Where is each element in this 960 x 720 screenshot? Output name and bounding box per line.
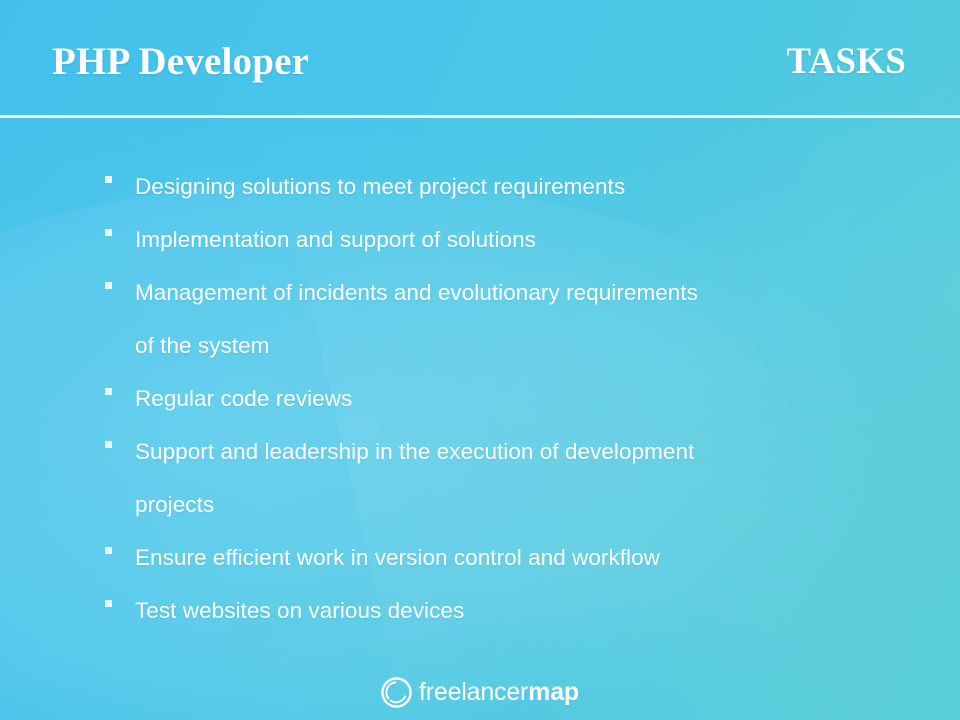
square-bullet-icon [105,388,112,395]
list-item-label: Implementation and support of solutions [135,213,536,266]
list-item: Regular code reviews [0,372,960,425]
square-bullet-icon [105,441,112,448]
list-item-label: Management of incidents and evolutionary… [135,266,698,319]
list-item-label: Test websites on various devices [135,584,464,637]
list-item: projects [0,478,960,531]
square-bullet-icon [105,229,112,236]
list-item: Ensure efficient work in version control… [0,531,960,584]
list-item-label: projects [135,478,214,531]
list-item-label: of the system [135,319,269,372]
header-divider [0,115,960,118]
list-item-label: Designing solutions to meet project requ… [135,160,625,213]
presentation-slide: PHP Developer TASKS Designing solutions … [0,0,960,720]
task-list: Designing solutions to meet project requ… [0,160,960,637]
list-item: Support and leadership in the execution … [0,425,960,478]
footer-logo: freelancer map [0,677,960,708]
freelancermap-swirl-icon [381,677,412,708]
list-item: of the system [0,319,960,372]
square-bullet-icon [105,176,112,183]
list-item: Implementation and support of solutions [0,213,960,266]
logo-wordmark: freelancer map [419,680,579,705]
list-item: Designing solutions to meet project requ… [0,160,960,213]
slide-header: PHP Developer TASKS [0,0,960,116]
list-item-label: Regular code reviews [135,372,352,425]
square-bullet-icon [105,282,112,289]
list-item: Test websites on various devices [0,584,960,637]
list-item-label: Support and leadership in the execution … [135,425,694,478]
square-bullet-icon [105,547,112,554]
logo-word-map: map [528,680,579,705]
page-title: PHP Developer [52,42,309,81]
logo-word-freelancer: freelancer [419,680,528,705]
section-label: TASKS [786,43,906,80]
square-bullet-icon [105,600,112,607]
list-item-label: Ensure efficient work in version control… [135,531,660,584]
list-item: Management of incidents and evolutionary… [0,266,960,319]
